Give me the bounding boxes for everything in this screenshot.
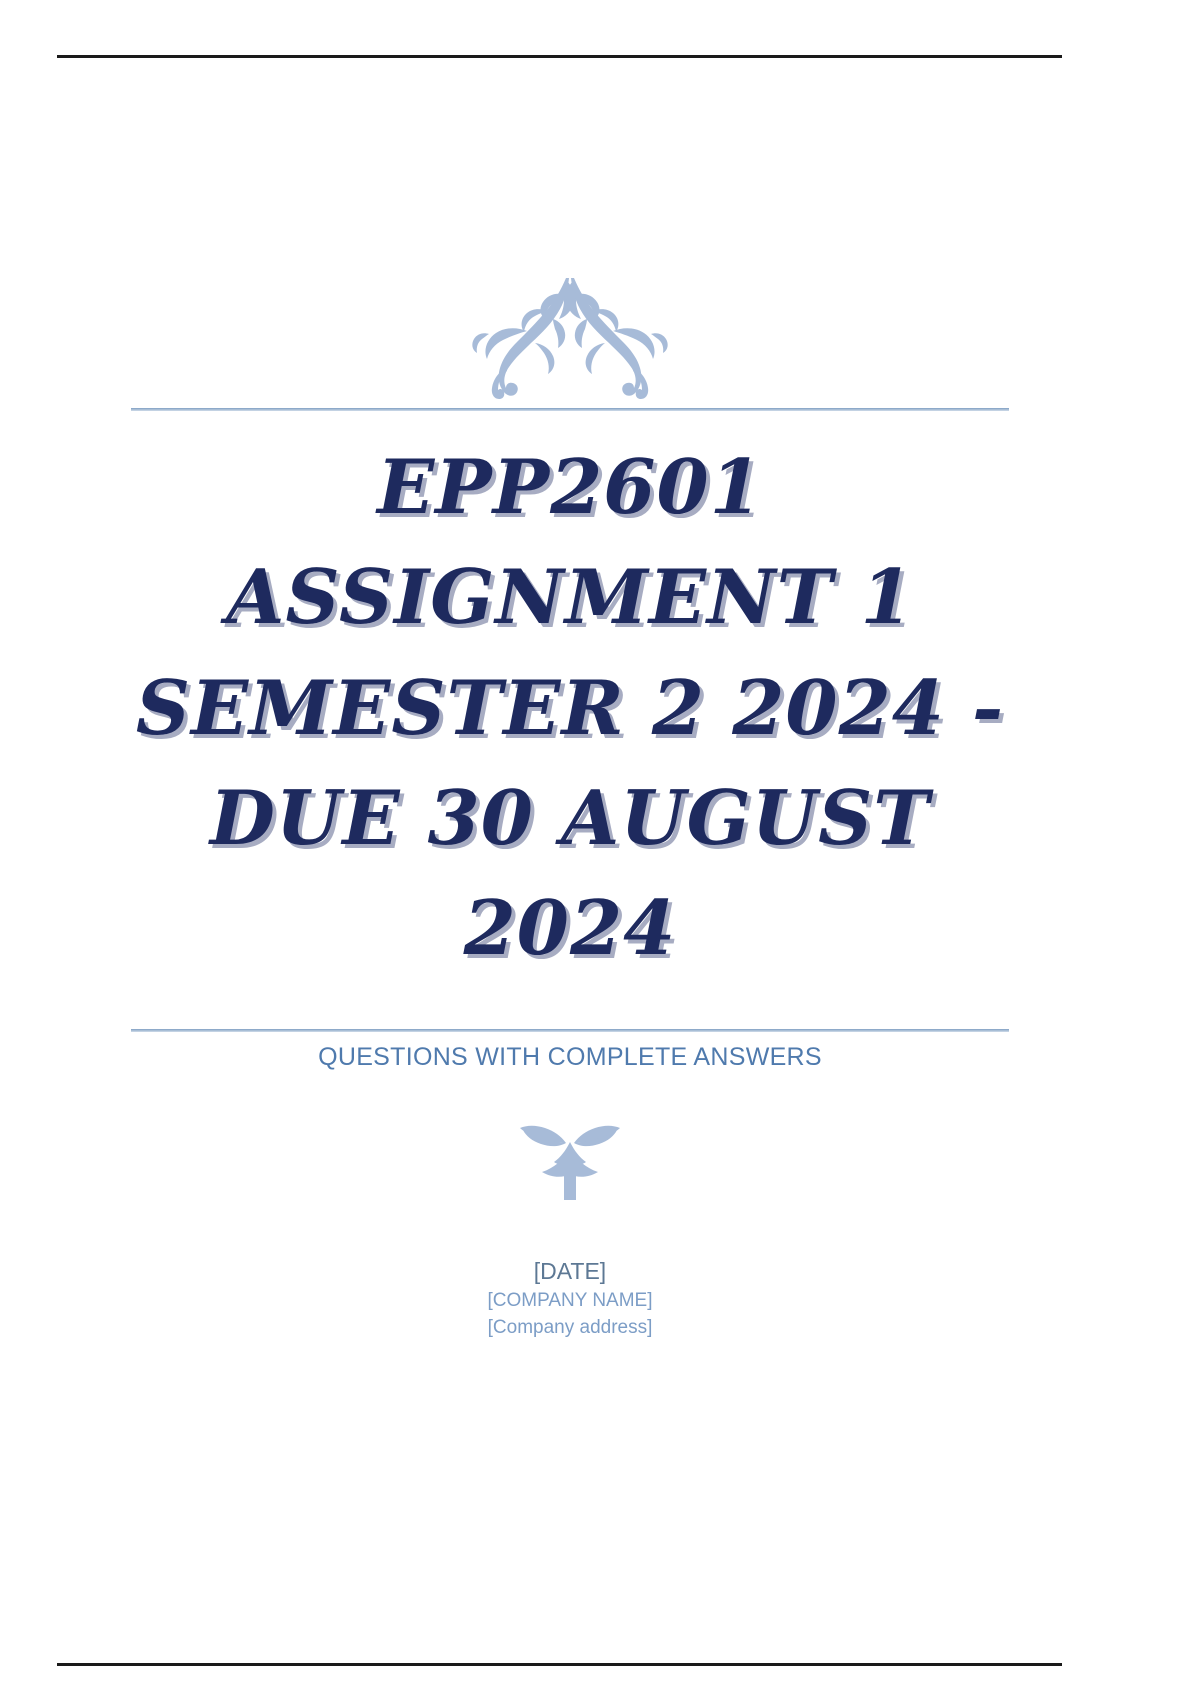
floral-flourish-ornament	[131, 268, 1009, 400]
footer-date: [DATE]	[131, 1255, 1009, 1288]
title-line-1: EPP2601	[131, 432, 1009, 542]
title-divider-bottom	[131, 1029, 1009, 1032]
footer-company-name: [COMPANY NAME]	[131, 1288, 1009, 1315]
footer-meta: [DATE] [COMPANY NAME] [Company address]	[131, 1255, 1009, 1342]
page-subtitle: QUESTIONS WITH COMPLETE ANSWERS	[131, 1043, 1009, 1072]
cover-page: EPP2601 ASSIGNMENT 1 SEMESTER 2 2024 - D…	[131, 0, 1009, 1700]
page-bottom-rule	[57, 1663, 1062, 1666]
title-line-5: 2024	[131, 873, 1009, 983]
leaf-sprout-ornament	[131, 1112, 1009, 1202]
footer-company-address: [Company address]	[131, 1315, 1009, 1342]
title-line-2: ASSIGNMENT 1	[131, 542, 1009, 652]
page-title: EPP2601 ASSIGNMENT 1 SEMESTER 2 2024 - D…	[131, 432, 1009, 983]
title-line-3: SEMESTER 2 2024 -	[131, 653, 1009, 763]
title-divider-top	[131, 408, 1009, 411]
title-line-4: DUE 30 AUGUST	[131, 763, 1009, 873]
